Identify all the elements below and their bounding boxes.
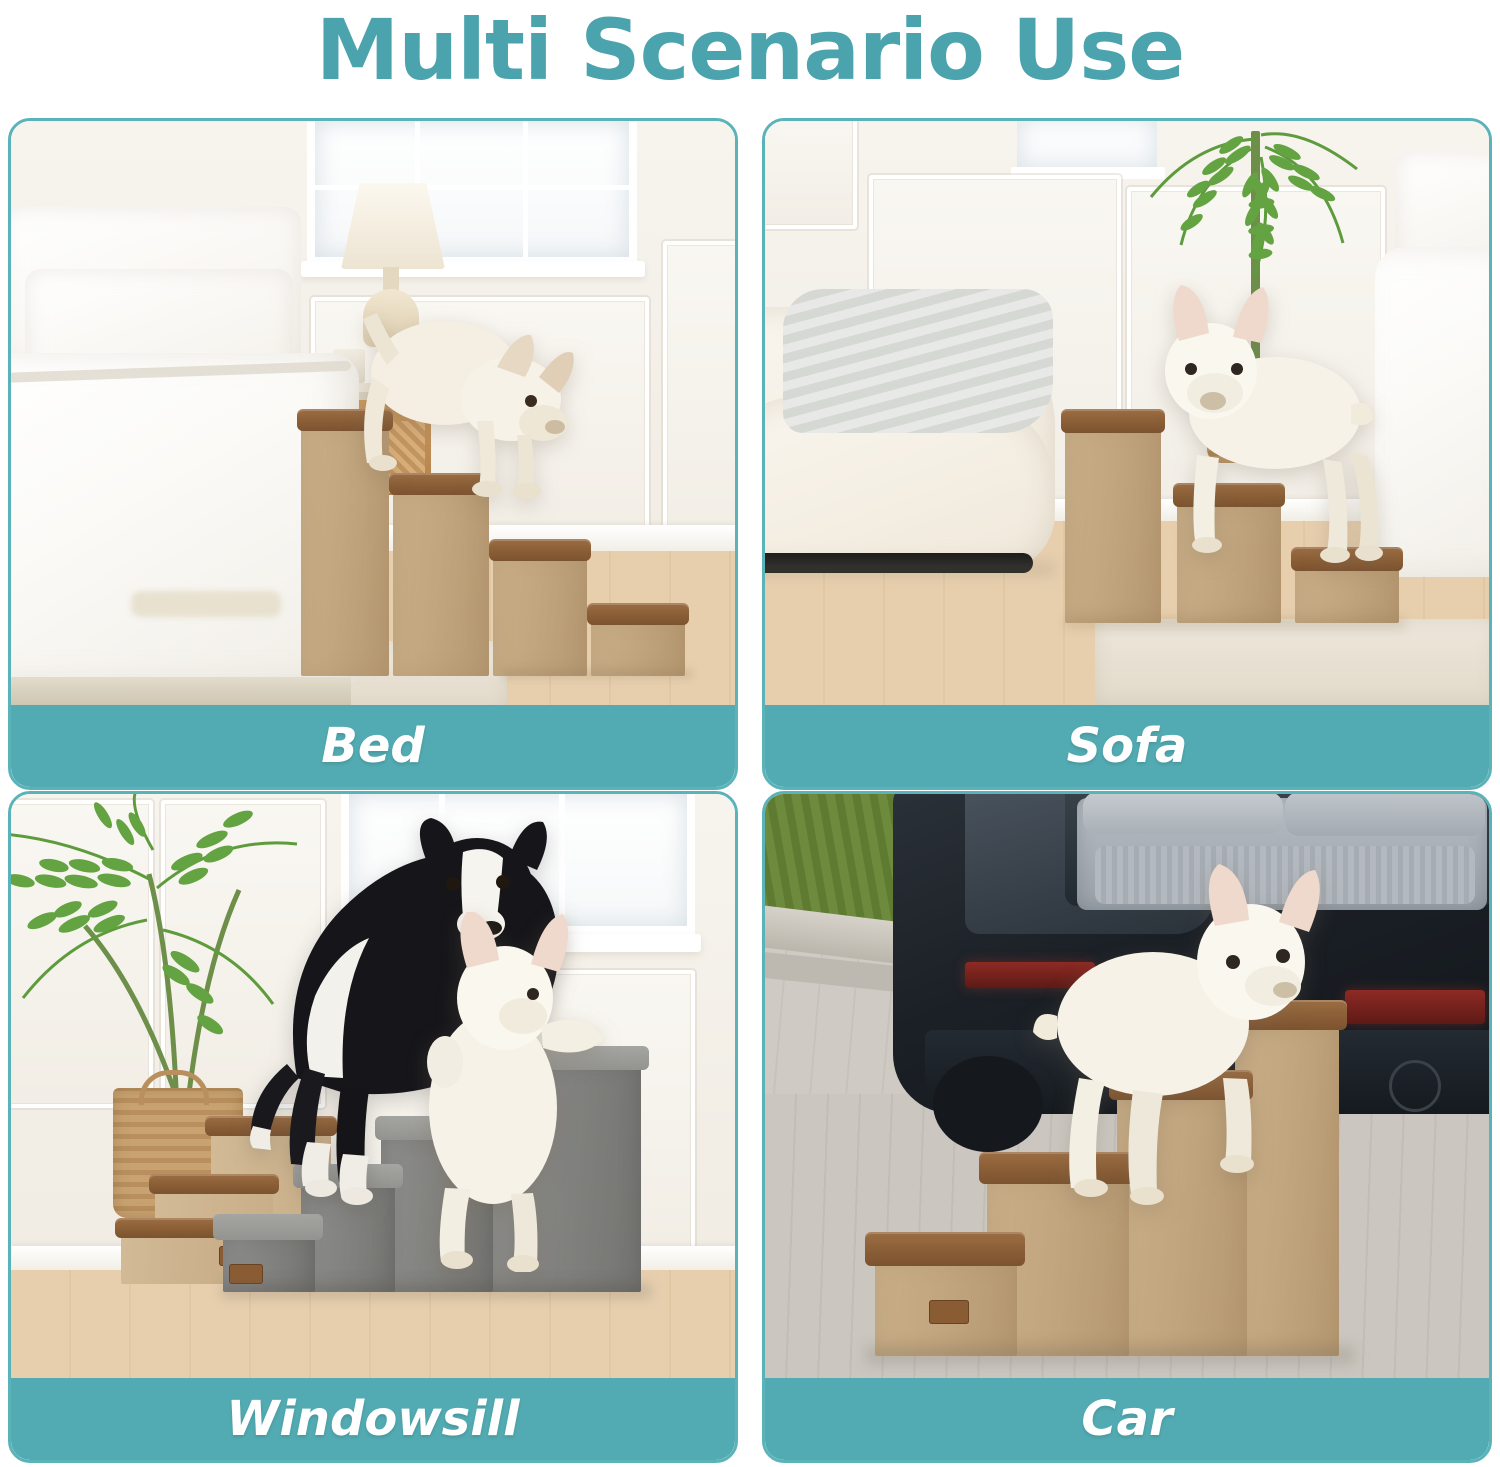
caption-bar-sofa: Sofa xyxy=(765,705,1489,787)
photo-windowsill xyxy=(11,794,735,1378)
dog-french-bulldog xyxy=(1125,263,1425,593)
dog-french-bulldog xyxy=(383,912,643,1272)
poster-root: Multi Scenario Use xyxy=(0,0,1500,1467)
photo-sofa xyxy=(765,121,1489,705)
scenario-card-bed[interactable]: Bed xyxy=(8,118,738,790)
caption-label-windowsill: Windowsill xyxy=(226,1391,519,1447)
caption-bar-bed: Bed xyxy=(11,705,735,787)
photo-car xyxy=(765,794,1489,1378)
photo-bed xyxy=(11,121,735,705)
caption-label-sofa: Sofa xyxy=(1067,718,1188,774)
scenario-card-car[interactable]: Car xyxy=(762,791,1492,1463)
caption-bar-windowsill: Windowsill xyxy=(11,1378,735,1460)
scenario-grid: Bed xyxy=(8,118,1492,1463)
scenario-card-sofa[interactable]: Sofa xyxy=(762,118,1492,790)
scenario-card-windowsill[interactable]: Windowsill xyxy=(8,791,738,1463)
caption-label-car: Car xyxy=(1081,1391,1172,1447)
dog-french-bulldog xyxy=(983,834,1343,1254)
page-title: Multi Scenario Use xyxy=(0,0,1500,104)
dog-french-bulldog xyxy=(327,281,607,501)
caption-bar-car: Car xyxy=(765,1378,1489,1460)
caption-label-bed: Bed xyxy=(321,718,425,774)
